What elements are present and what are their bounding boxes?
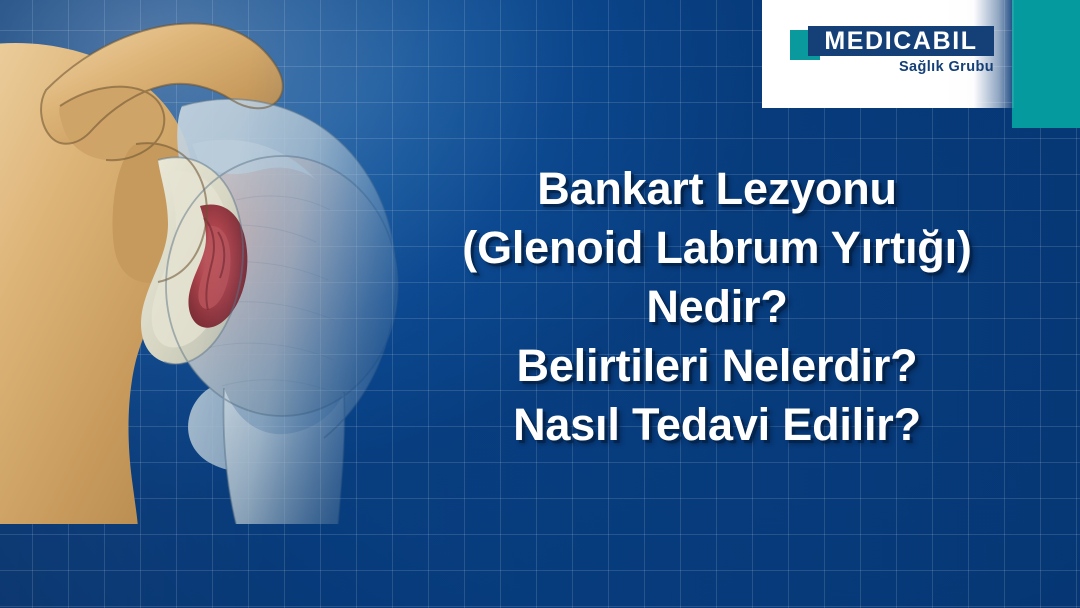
teal-accent-block <box>1012 0 1080 128</box>
brand-logo: MEDICABIL Sağlık Grubu <box>790 26 996 88</box>
logo-tagline: Sağlık Grubu <box>899 59 994 75</box>
logo-wordmark: MEDICABIL <box>824 29 977 54</box>
headline-line-3: Nedir? <box>372 278 1062 337</box>
headline-line-4: Belirtileri Nelerdir? <box>372 337 1062 396</box>
brand-logo-panel: MEDICABIL Sağlık Grubu <box>762 0 1014 108</box>
page-title: Bankart Lezyonu (Glenoid Labrum Yırtığı)… <box>372 160 1062 455</box>
shoulder-anatomy-illustration <box>0 0 426 524</box>
headline-line-2: (Glenoid Labrum Yırtığı) <box>372 219 1062 278</box>
headline-line-1: Bankart Lezyonu <box>372 160 1062 219</box>
promotional-banner: MEDICABIL Sağlık Grubu Bankart Lezyonu (… <box>0 0 1080 608</box>
logo-wordmark-bar: MEDICABIL <box>808 26 994 56</box>
footer-bar: 444 8 112 <box>0 530 1080 608</box>
headline-line-5: Nasıl Tedavi Edilir? <box>372 396 1062 455</box>
